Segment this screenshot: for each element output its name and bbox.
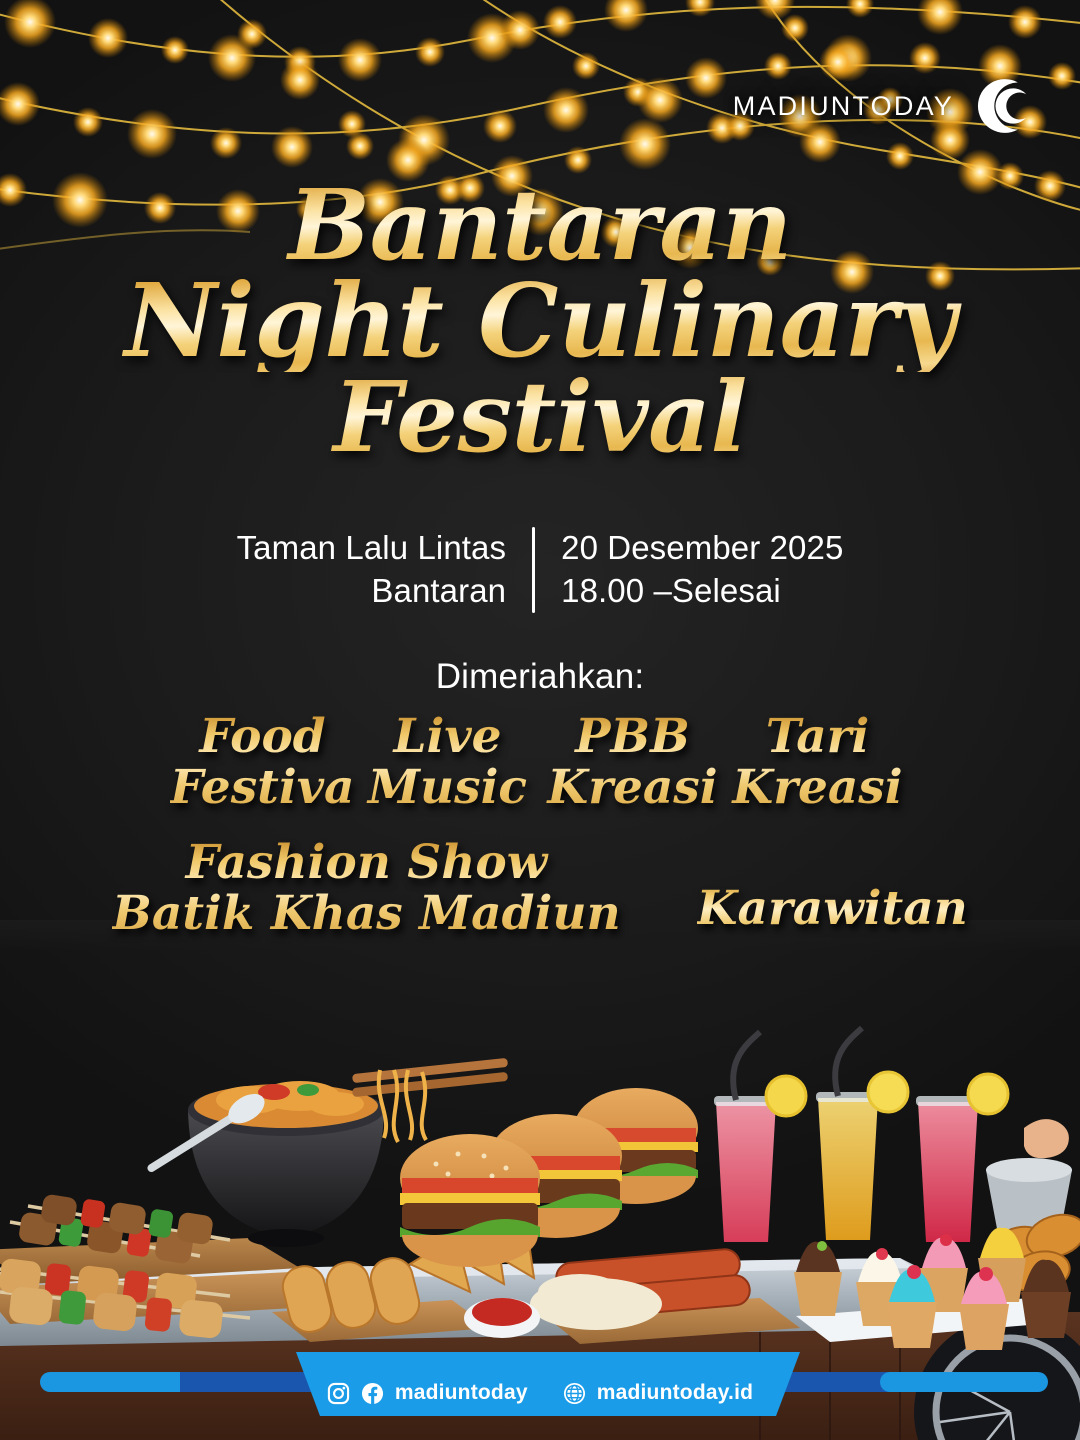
fashion-line-1: Fashion Show (112, 838, 621, 889)
event-date: 20 Desember 2025 (561, 527, 843, 570)
fashion-line-2: Batik Khas Madiun (112, 889, 621, 940)
drinks (714, 1028, 1008, 1242)
act-line-1: Tari (725, 712, 910, 763)
cheeseburgers (400, 1088, 698, 1267)
venue-line-1: Taman Lalu Lintas (237, 527, 507, 570)
act-line-2: Kreasi (725, 763, 910, 814)
bar-segment-light-right (880, 1372, 1048, 1392)
lineup-heading: Dimeriahkan: (0, 657, 1080, 697)
pink-lemonade-glass (714, 1032, 806, 1242)
event-details: Taman Lalu Lintas Bantaran 20 Desember 2… (0, 527, 1080, 613)
venue-line-2: Bantaran (237, 570, 507, 613)
lineup-item-food-festival: Food Festival (170, 712, 355, 814)
act-line-2: Festival (170, 763, 355, 814)
poster-canvas: MADIUNTODAY Bantaran Night Culinary Fest… (0, 0, 1080, 1440)
brand-logo-text: MADIUNTODAY (733, 91, 954, 122)
crescent-swoosh-mark (954, 64, 1038, 148)
lineup-item-live-music: Live Music (355, 712, 540, 814)
datetime-block: 20 Desember 2025 18.00 –Selesai (535, 527, 843, 613)
event-time: 18.00 –Selesai (561, 570, 843, 613)
ketchup-bowl (464, 1298, 540, 1338)
act-line-1: PBB (540, 712, 725, 763)
act-line-2: Music (355, 763, 540, 814)
social-banner-shape (296, 1352, 800, 1416)
act-line-1: Food (170, 712, 355, 763)
red-punch-glass (916, 1074, 1008, 1242)
brand-logo: MADIUNTODAY (733, 64, 1038, 148)
lineup-item-tari-kreasi: Tari Kreasi (725, 712, 910, 814)
act-line-2: Kreasi (540, 763, 725, 814)
lineup-row-1: Food Festival Live Music PBB Kreasi Tari… (0, 712, 1080, 814)
lineup-item-pbb-kreasi: PBB Kreasi (540, 712, 725, 814)
act-line-1: Live (355, 712, 540, 763)
lineup-item-karawitan: Karawitan (697, 881, 968, 940)
lineup-row-2: Fashion Show Batik Khas Madiun Karawitan (0, 838, 1080, 940)
page-title: Bantaran Night Culinary Festival (0, 176, 1080, 467)
title-line-3: Festival (0, 368, 1080, 467)
title-line-2: Night Culinary (0, 269, 1080, 372)
lineup-item-fashion-show: Fashion Show Batik Khas Madiun (112, 838, 621, 940)
footer-social-bar (0, 1350, 1080, 1440)
venue-block: Taman Lalu Lintas Bantaran (237, 527, 533, 613)
